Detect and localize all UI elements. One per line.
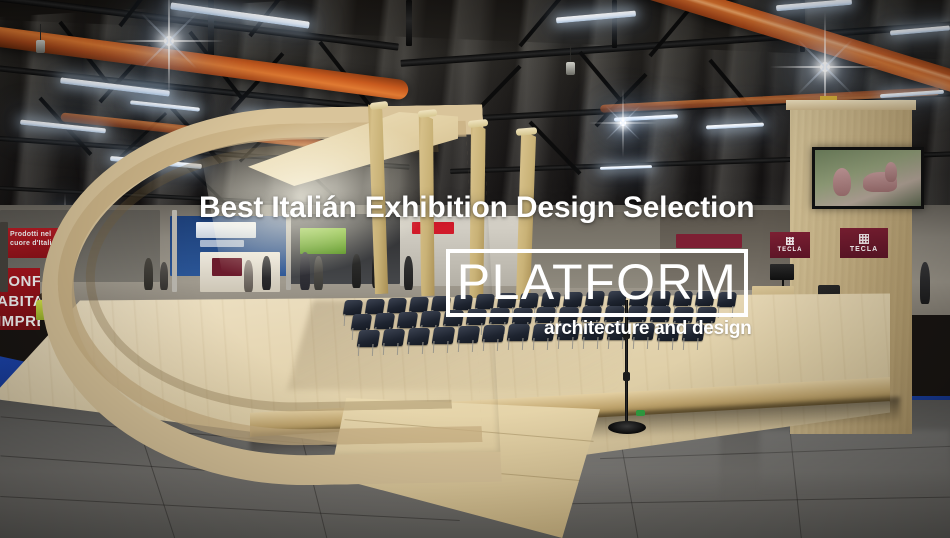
text-overlay: Best Italián Exhibition Design Selection… (0, 0, 950, 538)
platform-logo-box: PLATFORM (446, 249, 748, 317)
page-title: Best Italián Exhibition Design Selection (199, 191, 754, 225)
banner-image: B Prodotti nel cuore d'Italia CONFORT A (0, 0, 950, 538)
platform-logo-tagline: architecture and design (544, 318, 751, 340)
platform-logo-wordmark: PLATFORM (450, 257, 744, 307)
